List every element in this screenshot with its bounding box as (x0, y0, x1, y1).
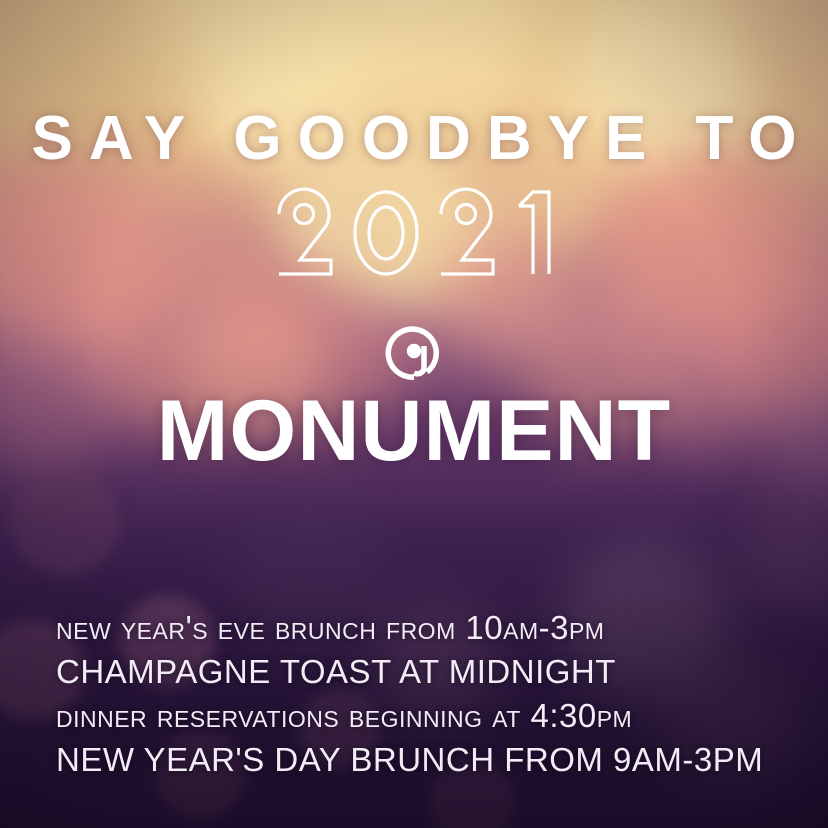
detail-line: Champagne toast at midnight (56, 650, 796, 694)
at-sign-icon (383, 322, 445, 384)
digit-two-icon (270, 186, 340, 278)
digit-zero-icon (351, 186, 421, 278)
headline-text: SAY GOODBYE TO (0, 108, 828, 170)
new-years-eve-poster: SAY GOODBYE TO (0, 0, 828, 828)
digit-two-icon (432, 186, 502, 278)
event-details-list: New Year's Eve Brunch from 10am-3pm Cham… (56, 606, 796, 782)
detail-line: Dinner reservations beginning at 4:30pm (56, 694, 796, 738)
detail-line: New Year's Day Brunch from 9am-3pm (56, 738, 796, 782)
venue-name: MONUMENT (0, 388, 828, 474)
at-symbol-wrapper (0, 322, 828, 384)
digit-one-icon (513, 186, 559, 278)
detail-line: New Year's Eve Brunch from 10am-3pm (56, 606, 796, 650)
year-2021-graphic (0, 186, 828, 278)
